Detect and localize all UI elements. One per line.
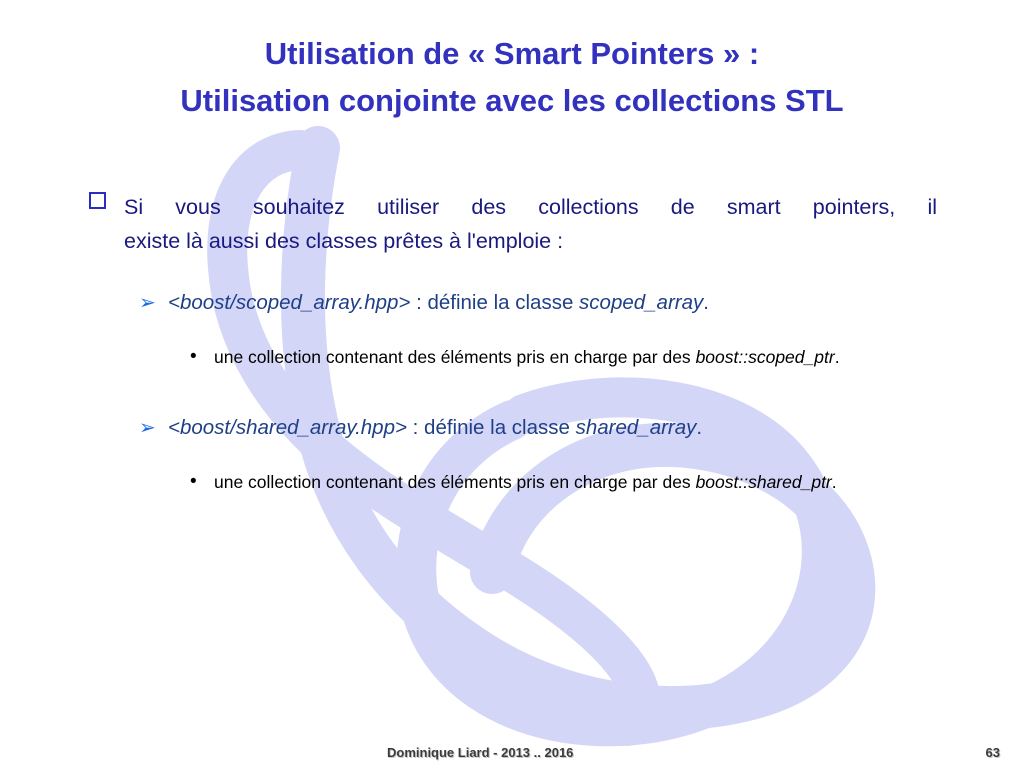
page-title: Utilisation de « Smart Pointers » : Util… xyxy=(40,30,984,124)
dot-bullet-icon: • xyxy=(190,343,197,370)
header-end-text: . xyxy=(703,291,709,314)
detail-text: une collection contenant des éléments pr… xyxy=(214,472,696,492)
detail-code: boost::scoped_ptr xyxy=(696,347,835,367)
bullet-level3-shared-ptr: • une collection contenant des éléments … xyxy=(0,469,1024,496)
title-line-1: Utilisation de « Smart Pointers » : xyxy=(40,30,984,77)
bullet-level3-text: une collection contenant des éléments pr… xyxy=(214,344,854,371)
arrow-bullet-icon: ➢ xyxy=(139,413,156,443)
detail-text: une collection contenant des éléments pr… xyxy=(214,347,696,367)
header-middle-text: : définie la classe xyxy=(410,291,579,314)
dot-bullet-icon: • xyxy=(190,468,197,495)
bullet-level2-text: <boost/scoped_array.hpp> : définie la cl… xyxy=(168,288,1024,318)
detail-end: . xyxy=(832,472,837,492)
bullet-level1-line2: existe là aussi des classes prêtes à l'e… xyxy=(124,224,937,258)
bullet-level1: Si vous souhaitez utiliser des collectio… xyxy=(0,190,1024,258)
square-bullet-icon xyxy=(89,192,109,212)
bullet-level3-text: une collection contenant des éléments pr… xyxy=(214,469,854,496)
bullet-level2-text: <boost/shared_array.hpp> : définie la cl… xyxy=(168,413,1024,443)
slide-canvas: Utilisation de « Smart Pointers » : Util… xyxy=(0,0,1024,768)
bullet-level1-line1: Si vous souhaitez utiliser des collectio… xyxy=(124,190,937,224)
title-line-2: Utilisation conjointe avec les collectio… xyxy=(40,77,984,124)
slide-footer: Dominique Liard - 2013 .. 2016 63 xyxy=(0,744,1024,768)
header-middle-text: : définie la classe xyxy=(407,416,576,439)
header-include-path: <boost/shared_array.hpp> xyxy=(168,416,407,439)
header-end-text: . xyxy=(696,416,702,439)
header-class-name: shared_array xyxy=(576,416,697,439)
footer-author: Dominique Liard - 2013 .. 2016 xyxy=(387,744,573,762)
slide-body: Si vous souhaitez utiliser des collectio… xyxy=(0,190,1024,496)
detail-code: boost::shared_ptr xyxy=(696,472,832,492)
header-class-name: scoped_array xyxy=(579,291,703,314)
bullet-level3-scoped-ptr: • une collection contenant des éléments … xyxy=(0,344,1024,371)
bullet-level2-shared-array: ➢ <boost/shared_array.hpp> : définie la … xyxy=(0,413,1024,443)
detail-end: . xyxy=(835,347,840,367)
footer-page-number: 63 xyxy=(986,744,1000,762)
header-include-path: <boost/scoped_array.hpp> xyxy=(168,291,410,314)
bullet-level1-text: Si vous souhaitez utiliser des collectio… xyxy=(124,190,937,258)
bullet-level2-scoped-array: ➢ <boost/scoped_array.hpp> : définie la … xyxy=(0,288,1024,318)
arrow-bullet-icon: ➢ xyxy=(139,288,156,318)
